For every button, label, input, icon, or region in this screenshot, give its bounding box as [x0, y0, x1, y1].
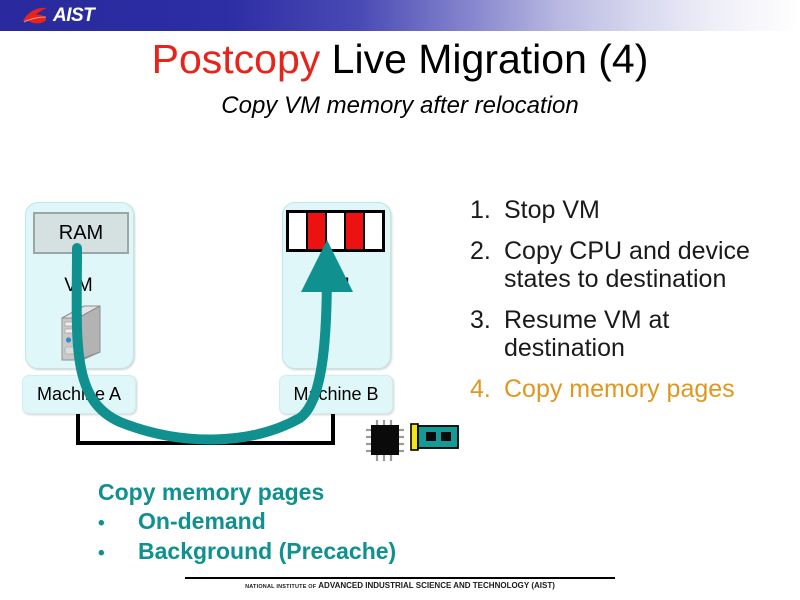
step-text: Resume VM at destination	[504, 306, 795, 363]
header-band: AIST	[0, 0, 800, 31]
step-item: 1. Stop VM	[470, 196, 795, 225]
machine-b-label: Machine B	[279, 375, 393, 414]
bullet-icon: •	[98, 512, 138, 536]
step-item-highlighted: 4. Copy memory pages	[470, 375, 795, 404]
machine-a-vm-label: VM	[25, 275, 132, 297]
page-title-rest: Live Migration (4)	[320, 36, 648, 82]
aist-swoosh-icon	[22, 6, 52, 26]
page-title-accent: Postcopy	[152, 36, 321, 82]
cpu-chip-icon	[364, 418, 406, 462]
step-text: Copy memory pages	[504, 375, 795, 404]
machine-a-label-text: Machine A	[37, 384, 121, 405]
note-sub-text: Background (Precache)	[138, 537, 518, 566]
step-number: 4.	[470, 375, 504, 404]
footer-divider	[185, 577, 615, 579]
machine-a-ram-label: RAM	[59, 222, 103, 245]
note-sub-item: • On-demand	[98, 507, 518, 536]
note-sub-text: On-demand	[138, 507, 518, 536]
server-tower-icon	[56, 302, 104, 364]
memory-cell	[306, 213, 325, 249]
pci-device-card-icon	[410, 421, 460, 455]
memory-cell	[325, 213, 344, 249]
memory-cell	[363, 213, 382, 249]
aist-logo: AIST	[22, 4, 122, 27]
migration-diagram: RAM VM Machine A VM	[0, 150, 460, 480]
footer-text: NATIONAL INSTITUTE OF ADVANCED INDUSTRIA…	[0, 581, 800, 590]
bullet-icon: •	[98, 542, 138, 566]
footer-main: ADVANCED INDUSTRIAL SCIENCE AND TECHNOLO…	[318, 581, 555, 590]
step-number: 3.	[470, 306, 504, 335]
machine-b-vm-label: VM	[282, 275, 389, 297]
machine-b-memory-bar	[286, 210, 385, 252]
machine-b-label-text: Machine B	[293, 384, 378, 405]
step-number: 2.	[470, 237, 504, 266]
memory-cell	[289, 213, 306, 249]
note-sub-item: • Background (Precache)	[98, 537, 518, 566]
footer-prefix: NATIONAL INSTITUTE OF	[245, 584, 316, 590]
step-text: Stop VM	[504, 196, 795, 225]
machine-a-label: Machine A	[22, 375, 136, 414]
memory-cell	[344, 213, 363, 249]
page-title: Postcopy Live Migration (4)	[0, 38, 800, 81]
step-number: 1.	[470, 196, 504, 225]
step-item: 3. Resume VM at destination	[470, 306, 795, 363]
step-item: 2. Copy CPU and device states to destina…	[470, 237, 795, 294]
steps-list: 1. Stop VM 2. Copy CPU and device states…	[470, 196, 795, 415]
note-heading: Copy memory pages	[98, 478, 518, 507]
bottom-note: Copy memory pages • On-demand • Backgrou…	[98, 478, 518, 566]
machine-a-ram-box: RAM	[33, 212, 129, 254]
aist-logo-text: AIST	[53, 6, 94, 25]
step-text: Copy CPU and device states to destinatio…	[504, 237, 795, 294]
page-subtitle: Copy VM memory after relocation	[0, 92, 800, 120]
